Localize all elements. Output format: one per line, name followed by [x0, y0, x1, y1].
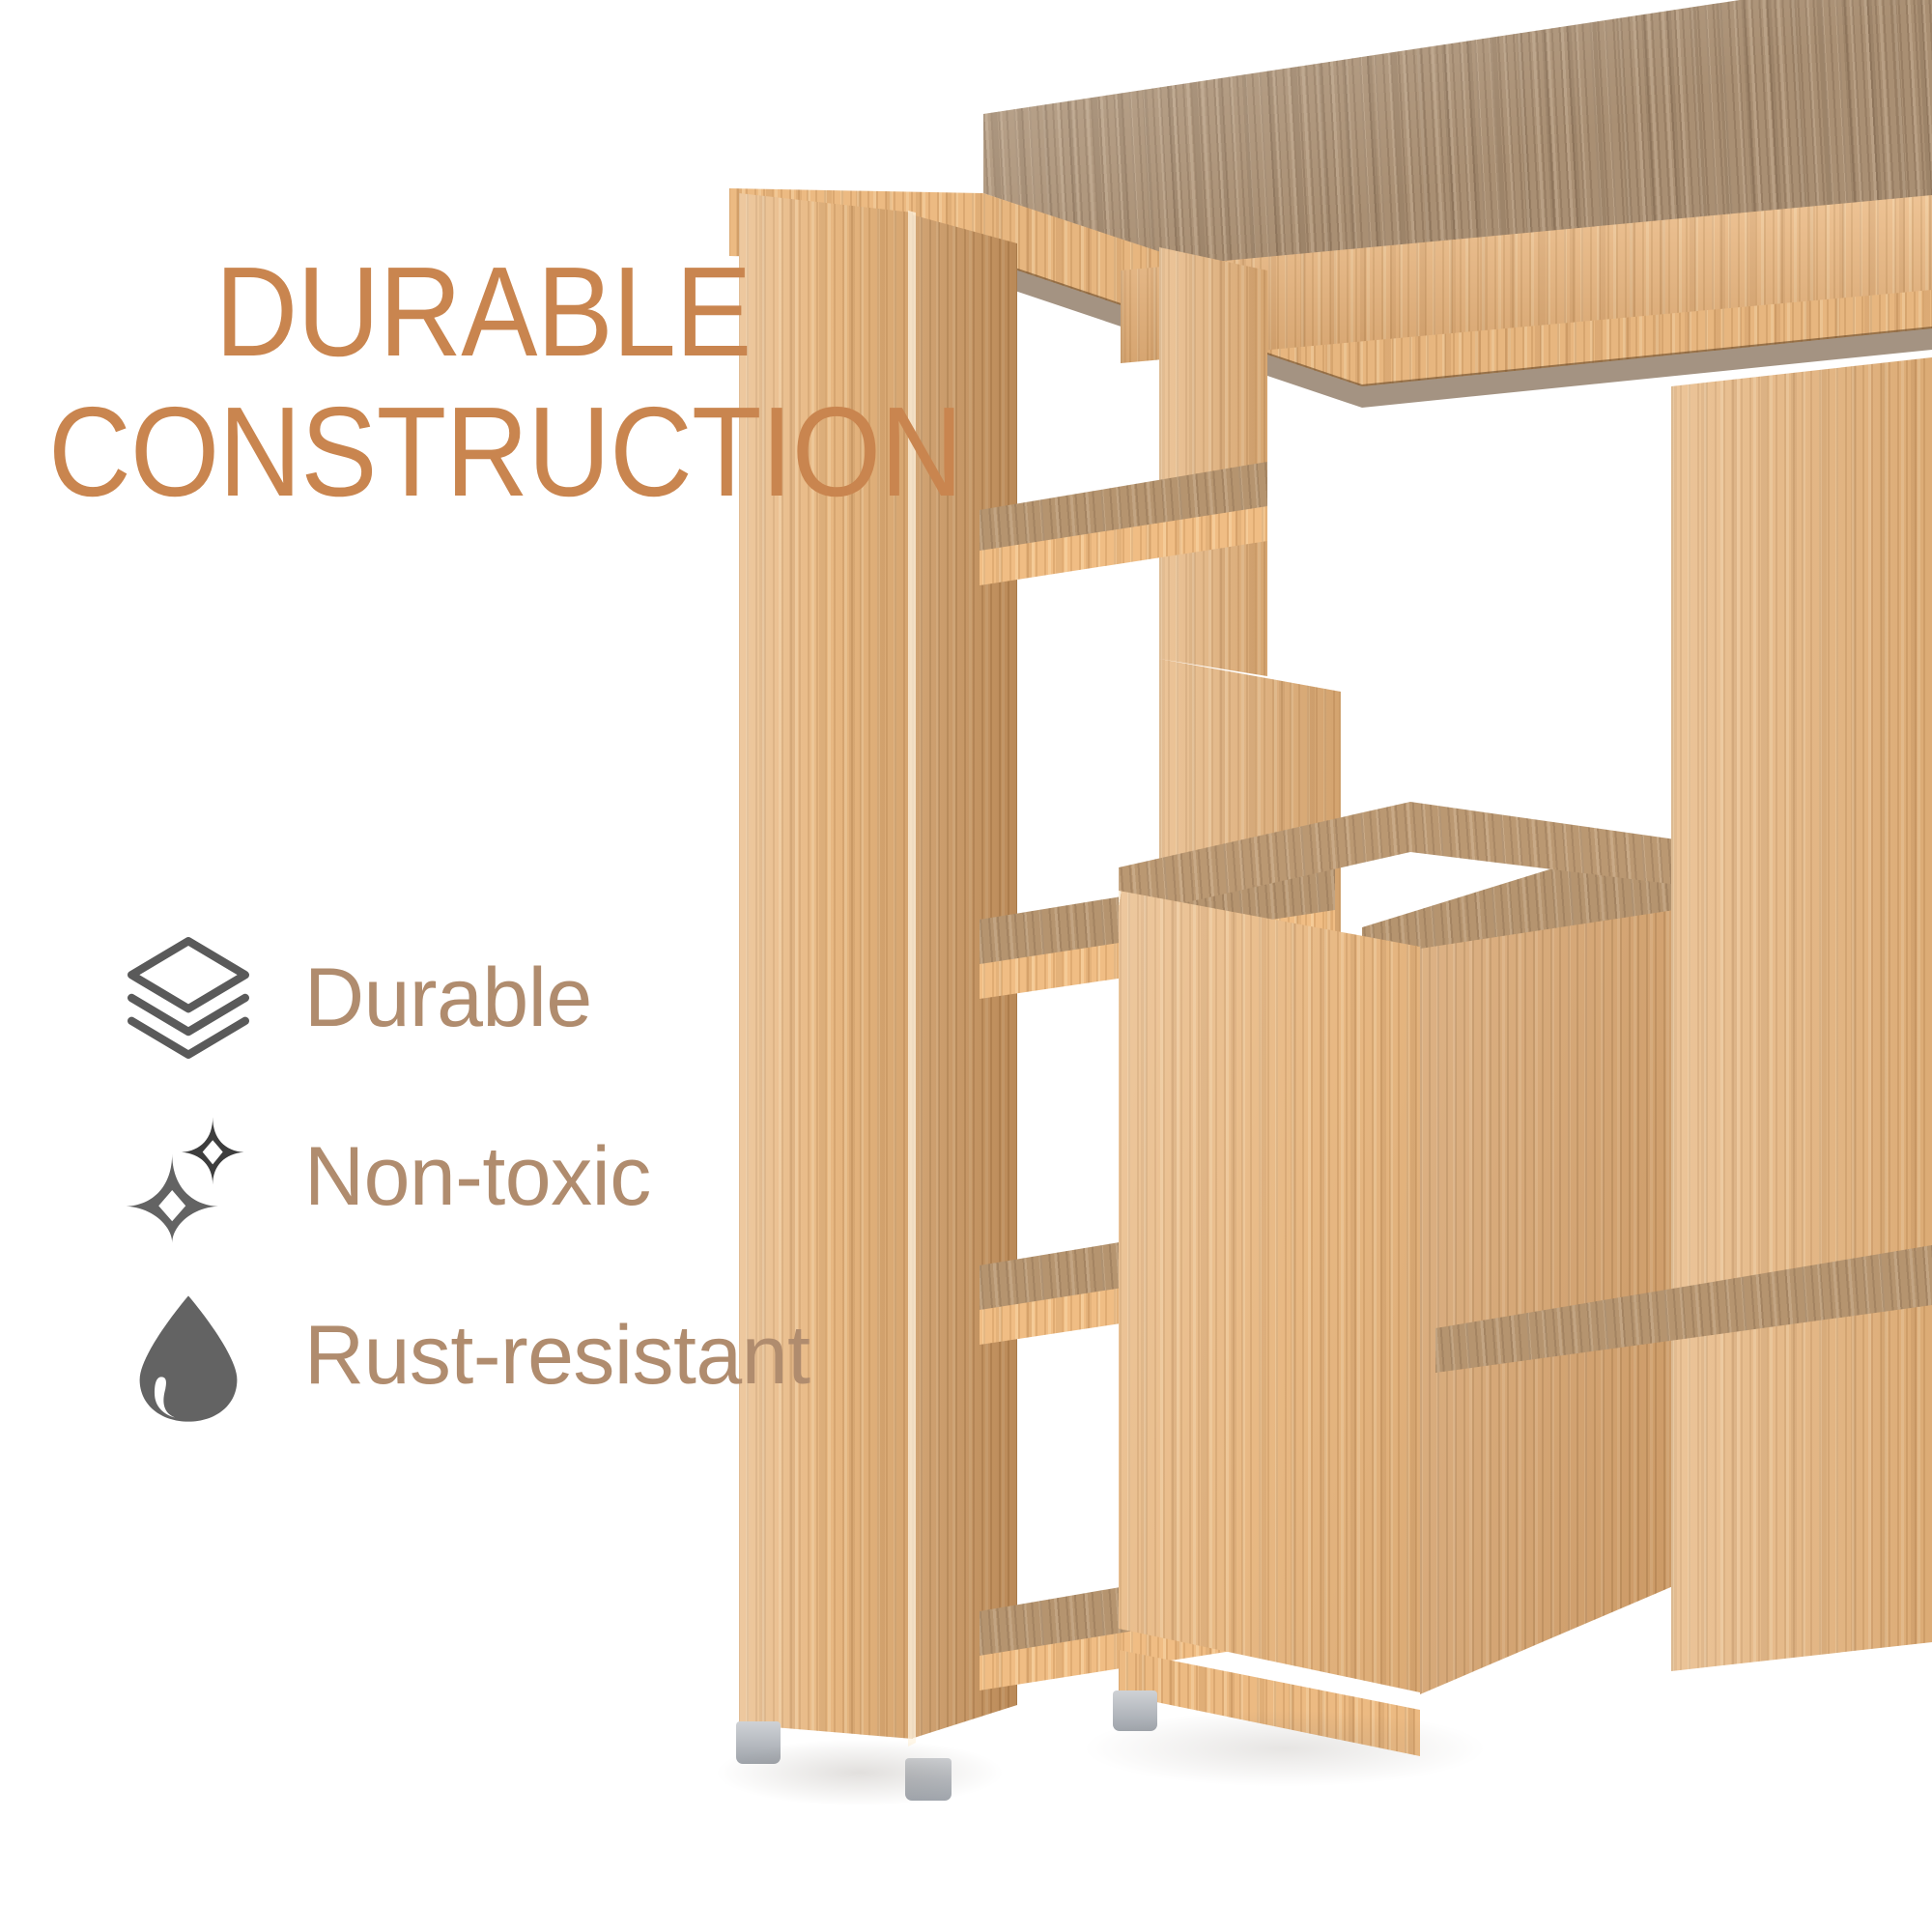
cabinet-front-reveal	[1111, 850, 1430, 1719]
feature-item-non-toxic: Non-toxic	[116, 1087, 908, 1265]
product-feature-banner: DURABLE CONSTRUCTION Durable	[0, 0, 1932, 1932]
headline-line-2: CONSTRUCTION	[48, 382, 918, 522]
floor-shadow-cabinet	[1082, 1710, 1488, 1787]
feature-label-rust-resistant: Rust-resistant	[304, 1314, 810, 1397]
feature-label-non-toxic: Non-toxic	[304, 1135, 651, 1218]
page-title: DURABLE CONSTRUCTION	[0, 241, 966, 522]
sparkle-icon	[116, 1104, 261, 1249]
headline-line-1: DURABLE	[48, 241, 918, 382]
right-side-panel-shade	[1671, 290, 1932, 1758]
feature-item-durable: Durable	[116, 908, 908, 1087]
feature-label-durable: Durable	[304, 956, 592, 1039]
feature-list: Durable Non-toxic Rust-resistant	[116, 908, 908, 1444]
droplet-icon	[116, 1283, 261, 1428]
floor-shadow-left	[715, 1739, 1005, 1806]
feature-item-rust-resistant: Rust-resistant	[116, 1265, 908, 1444]
layers-icon	[116, 925, 261, 1070]
